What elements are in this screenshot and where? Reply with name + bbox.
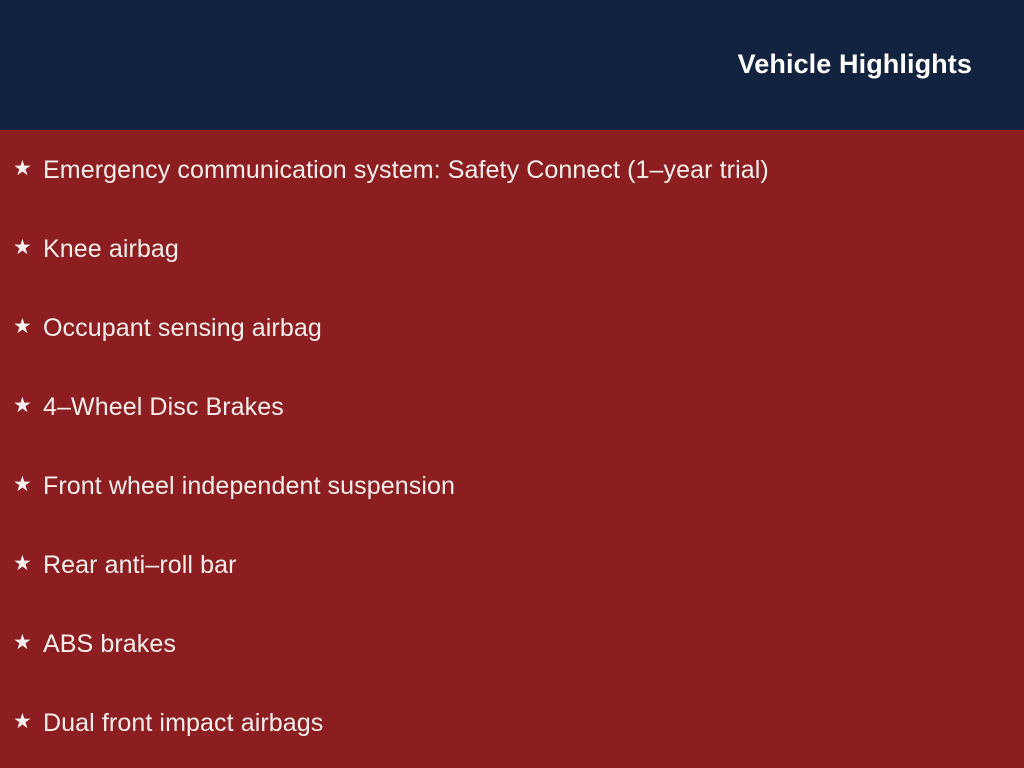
- star-icon: ★: [13, 474, 43, 495]
- list-item: ★ABS brakes: [0, 604, 1024, 683]
- list-item: ★Emergency communication system: Safety …: [0, 130, 1024, 209]
- star-icon: ★: [13, 158, 43, 179]
- list-item-label: Occupant sensing airbag: [43, 312, 1024, 344]
- list-item-label: Front wheel independent suspension: [43, 470, 1024, 502]
- list-item: ★Occupant sensing airbag: [0, 288, 1024, 367]
- star-icon: ★: [13, 395, 43, 416]
- list-item: ★4–Wheel Disc Brakes: [0, 367, 1024, 446]
- page-title: Vehicle Highlights: [738, 46, 972, 82]
- list-item: ★Front wheel independent suspension: [0, 446, 1024, 525]
- star-icon: ★: [13, 632, 43, 653]
- star-icon: ★: [13, 553, 43, 574]
- list-item-label: Emergency communication system: Safety C…: [43, 154, 1024, 186]
- list-item-label: Knee airbag: [43, 233, 1024, 265]
- list-item: ★Dual front impact airbags: [0, 683, 1024, 762]
- list-item-label: 4–Wheel Disc Brakes: [43, 391, 1024, 423]
- header-band: Vehicle Highlights: [0, 0, 1024, 130]
- slide-root: Vehicle Highlights ★Emergency communicat…: [0, 0, 1024, 768]
- star-icon: ★: [13, 237, 43, 258]
- list-item-label: Dual front impact airbags: [43, 707, 1024, 739]
- star-icon: ★: [13, 711, 43, 732]
- star-icon: ★: [13, 316, 43, 337]
- list-item: ★Knee airbag: [0, 209, 1024, 288]
- highlights-list: ★Emergency communication system: Safety …: [0, 130, 1024, 768]
- list-item-label: ABS brakes: [43, 628, 1024, 660]
- list-item: ★Rear anti–roll bar: [0, 525, 1024, 604]
- list-item-label: Rear anti–roll bar: [43, 549, 1024, 581]
